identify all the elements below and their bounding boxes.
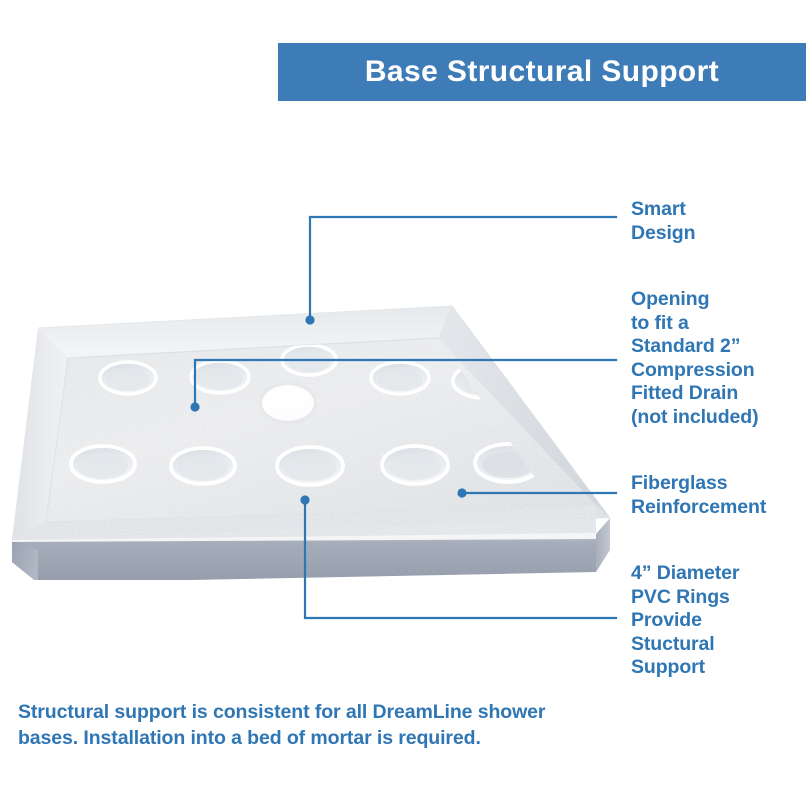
infographic-page: Base Structural Support [0,0,806,806]
pvc-ring [191,361,249,393]
bottom-caption: Structural support is consistent for all… [18,700,578,751]
base-right-bevel [596,518,610,572]
shower-base-illustration [0,250,620,580]
callout-label-pvc-rings: 4” Diameter PVC Rings Provide Stuctural … [631,562,739,680]
page-title: Base Structural Support [365,55,719,89]
pvc-ring [71,446,135,482]
pvc-ring [282,345,336,375]
pvc-ring [100,362,156,394]
callout-label-opening-drain: Opening to fit a Standard 2” Compression… [631,288,759,429]
callout-label-smart-design: Smart Design [631,198,695,245]
header-banner: Base Structural Support [278,43,806,101]
pvc-ring [171,448,235,484]
pvc-ring [277,447,343,485]
pvc-ring [371,362,429,394]
callout-label-fiberglass-reinforcement: Fiberglass Reinforcement [631,472,766,519]
pvc-ring [382,446,448,484]
drain-opening [260,383,316,423]
